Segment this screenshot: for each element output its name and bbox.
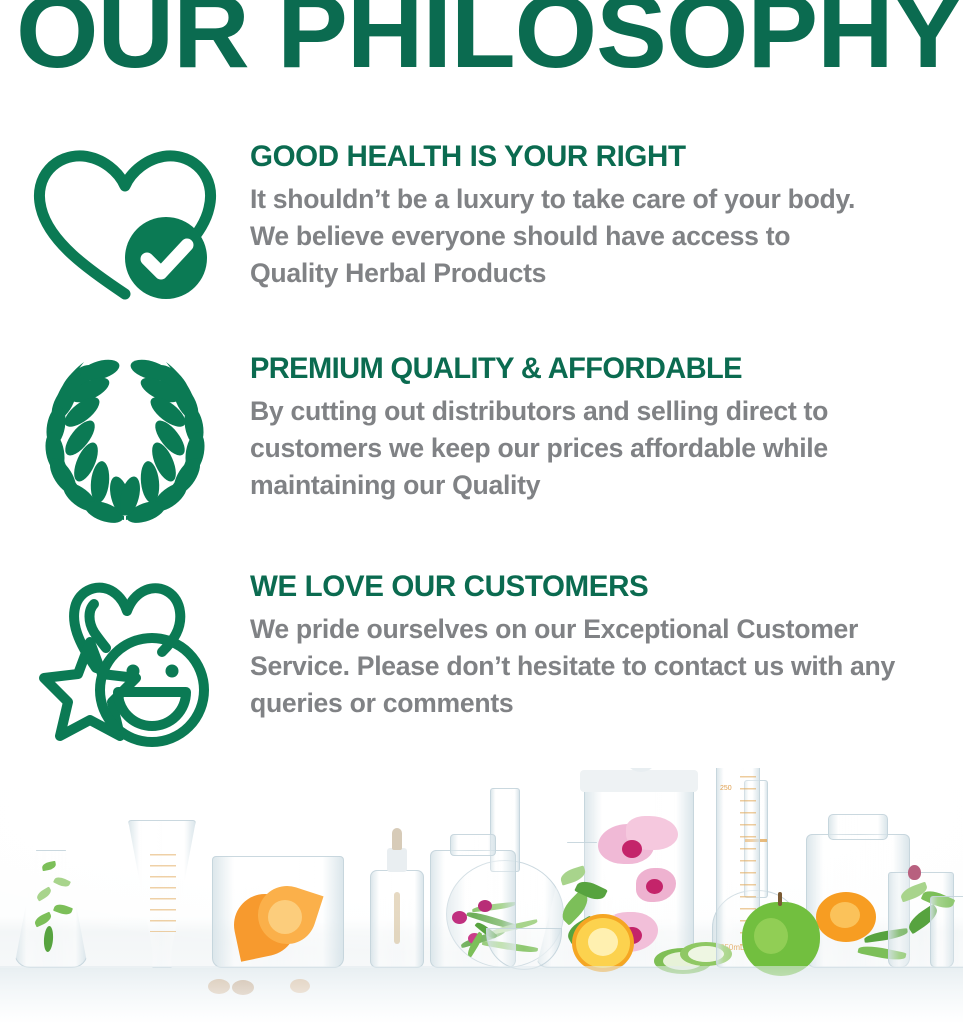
philosophy-item-heading: GOOD HEALTH IS YOUR RIGHT	[250, 140, 935, 174]
philosophy-item: PREMIUM QUALITY & AFFORDABLE By cutting …	[0, 352, 963, 526]
philosophy-item-body: GOOD HEALTH IS YOUR RIGHT It shouldn’t b…	[250, 140, 963, 292]
philosophy-item-heading: WE LOVE OUR CUSTOMERS	[250, 570, 935, 604]
photo-reflection	[0, 966, 963, 1024]
philosophy-item-text: We pride ourselves on our Exceptional Cu…	[250, 611, 905, 722]
laurel-wreath-icon	[0, 352, 250, 526]
page-title: OUR PHILOSOPHY	[16, 0, 963, 88]
philosophy-page: OUR PHILOSOPHY GOOD HEALTH IS YOUR RIGHT…	[0, 0, 963, 1024]
heart-check-icon	[0, 140, 250, 306]
star-smiley-heart-icon	[0, 570, 250, 750]
philosophy-item-text: By cutting out distributors and selling …	[250, 393, 880, 504]
philosophy-item-text: It shouldn’t be a luxury to take care of…	[250, 181, 880, 292]
philosophy-item-heading: PREMIUM QUALITY & AFFORDABLE	[250, 352, 935, 386]
cylinder-scale-label: 250	[720, 785, 732, 792]
philosophy-item-body: PREMIUM QUALITY & AFFORDABLE By cutting …	[250, 352, 963, 504]
lab-glassware-photo: 250mL	[0, 768, 963, 1024]
philosophy-item: GOOD HEALTH IS YOUR RIGHT It shouldn’t b…	[0, 140, 963, 306]
philosophy-item: WE LOVE OUR CUSTOMERS We pride ourselves…	[0, 570, 963, 750]
philosophy-item-body: WE LOVE OUR CUSTOMERS We pride ourselves…	[250, 570, 963, 722]
